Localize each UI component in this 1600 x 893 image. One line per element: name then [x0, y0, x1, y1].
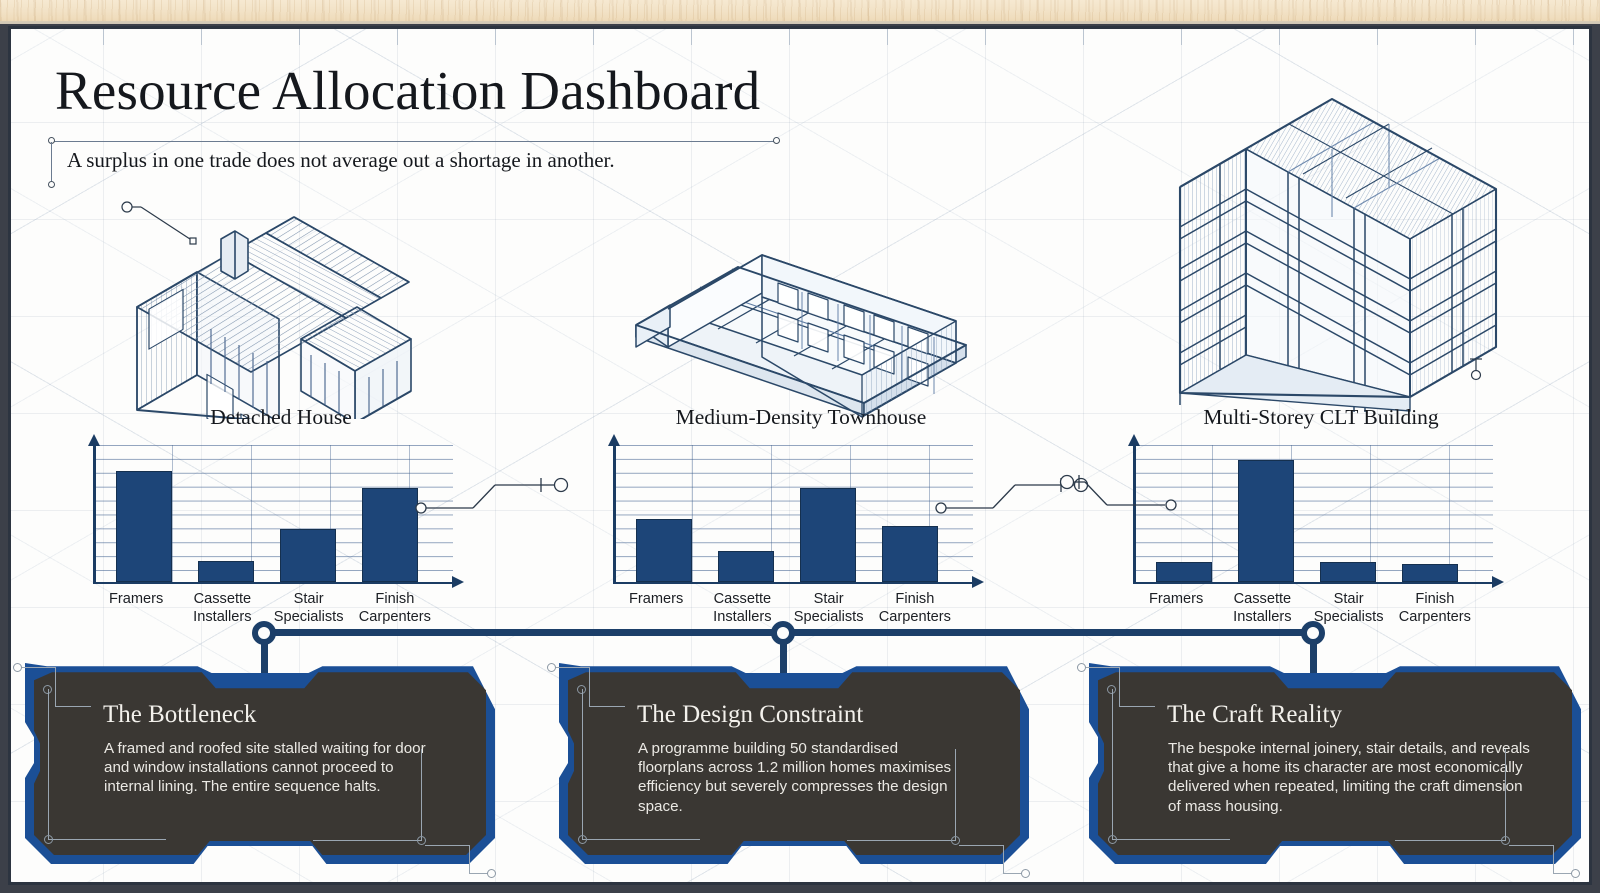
bracket-dot	[951, 836, 960, 845]
x-label-finish-carpenters: Finish Carpenters	[1392, 591, 1478, 626]
card-title: The Craft Reality	[1167, 701, 1342, 729]
x-label-finish-carpenters: Finish Carpenters	[872, 591, 958, 626]
bracket-line	[1395, 840, 1505, 841]
isometric-clt-building-icon	[1136, 67, 1506, 412]
bracket-dot	[1501, 836, 1510, 845]
bracket-line	[1553, 845, 1554, 873]
bracket-dot	[547, 663, 556, 672]
rail-node-0[interactable]	[252, 621, 276, 645]
y-axis	[1133, 445, 1136, 584]
isometric-townhouse-icon	[626, 197, 976, 422]
bar-chart-2	[1133, 445, 1493, 584]
title-rule	[51, 141, 777, 142]
card-body-text: A programme building 50 standardised flo…	[638, 739, 958, 816]
bracket-line	[589, 667, 590, 707]
bar-finish-carpenters[interactable]	[362, 488, 418, 582]
bracket-line	[1003, 845, 1004, 873]
bracket-line	[1509, 845, 1553, 846]
bracket-line	[959, 845, 1003, 846]
x-label-stair-specialists: Stair Specialists	[266, 591, 352, 626]
bar-framers[interactable]	[636, 519, 692, 582]
card-title: The Bottleneck	[103, 701, 256, 729]
card-body-text: A framed and roofed site stalled waiting…	[104, 739, 434, 797]
bar-stair-specialists[interactable]	[1320, 562, 1376, 582]
bracket-line	[1119, 667, 1120, 707]
isometric-detached-house-icon	[111, 179, 451, 419]
ruler-ticks	[11, 29, 1589, 45]
blueprint-sheet: Resource Allocation Dashboard A surplus …	[8, 26, 1592, 885]
chart-title-1: Medium-Density Townhouse	[591, 405, 1011, 430]
bar-cassette-installers[interactable]	[198, 561, 254, 582]
rail-node-2[interactable]	[1301, 621, 1325, 645]
bracket-dot	[417, 836, 426, 845]
bar-framers[interactable]	[1156, 562, 1212, 582]
bar-chart-0	[93, 445, 453, 584]
rail-node-1[interactable]	[771, 621, 795, 645]
bar-stair-specialists[interactable]	[280, 529, 336, 582]
bracket-line	[55, 706, 91, 707]
chart-title-2: Multi-Storey CLT Building	[1111, 405, 1531, 430]
card-title: The Design Constraint	[637, 701, 863, 729]
card-body-text: The bespoke internal joinery, stair deta…	[1168, 739, 1538, 816]
bracket-line	[1119, 706, 1155, 707]
infographic-canvas: Resource Allocation Dashboard A surplus …	[0, 0, 1600, 893]
bracket-line	[1505, 749, 1506, 841]
bracket-line	[17, 667, 55, 668]
x-label-cassette-installers: Cassette Installers	[179, 591, 265, 626]
x-label-cassette-installers: Cassette Installers	[1219, 591, 1305, 626]
x-label-framers: Framers	[93, 591, 179, 626]
bracket-line	[313, 840, 421, 841]
chart-title-0: Detached House	[71, 405, 491, 430]
bracket-line	[1081, 667, 1119, 668]
bar-finish-carpenters[interactable]	[1402, 564, 1458, 582]
bracket-dot	[1021, 869, 1030, 878]
x-axis-labels-2: Framers Cassette Installers Stair Specia…	[1133, 591, 1478, 626]
info-card-craft-reality[interactable]: The Craft Reality The bespoke internal j…	[1089, 649, 1581, 864]
bracket-dot	[1108, 835, 1117, 844]
bracket-line	[847, 840, 955, 841]
bracket-dot	[13, 663, 22, 672]
bracket-line	[48, 689, 49, 839]
x-label-stair-specialists: Stair Specialists	[786, 591, 872, 626]
bracket-line	[1112, 839, 1230, 840]
bar-cassette-installers[interactable]	[718, 551, 774, 582]
bracket-line	[1112, 689, 1113, 839]
bracket-line	[589, 706, 625, 707]
bar-framers[interactable]	[116, 471, 172, 582]
bracket-line	[551, 667, 589, 668]
x-label-finish-carpenters: Finish Carpenters	[352, 591, 438, 626]
page-subtitle: A surplus in one trade does not average …	[67, 148, 615, 173]
y-axis	[93, 445, 96, 584]
x-label-stair-specialists: Stair Specialists	[1306, 591, 1392, 626]
wood-desk-strip	[0, 0, 1600, 24]
bracket-line	[425, 845, 469, 846]
bar-chart-1	[613, 445, 973, 584]
bracket-line	[582, 839, 700, 840]
bar-cassette-installers[interactable]	[1238, 460, 1294, 582]
bar-finish-carpenters[interactable]	[882, 526, 938, 582]
bracket-line	[421, 749, 422, 841]
page-title: Resource Allocation Dashboard	[55, 59, 760, 122]
bracket-dot	[44, 835, 53, 844]
x-label-cassette-installers: Cassette Installers	[699, 591, 785, 626]
bracket-dot	[487, 869, 496, 878]
info-card-design-constraint[interactable]: The Design Constraint A programme buildi…	[559, 649, 1029, 864]
bracket-line	[955, 749, 956, 841]
bracket-line	[469, 845, 470, 873]
x-label-framers: Framers	[1133, 591, 1219, 626]
bracket-line	[55, 667, 56, 707]
bracket-line	[48, 839, 166, 840]
y-axis	[613, 445, 616, 584]
bracket-line	[582, 689, 583, 839]
bracket-dot	[578, 835, 587, 844]
bracket-dot	[1571, 869, 1580, 878]
x-label-framers: Framers	[613, 591, 699, 626]
bar-stair-specialists[interactable]	[800, 488, 856, 582]
title-rule-tick	[51, 142, 52, 181]
bracket-dot	[1077, 663, 1086, 672]
info-card-bottleneck[interactable]: The Bottleneck A framed and roofed site …	[25, 649, 495, 864]
